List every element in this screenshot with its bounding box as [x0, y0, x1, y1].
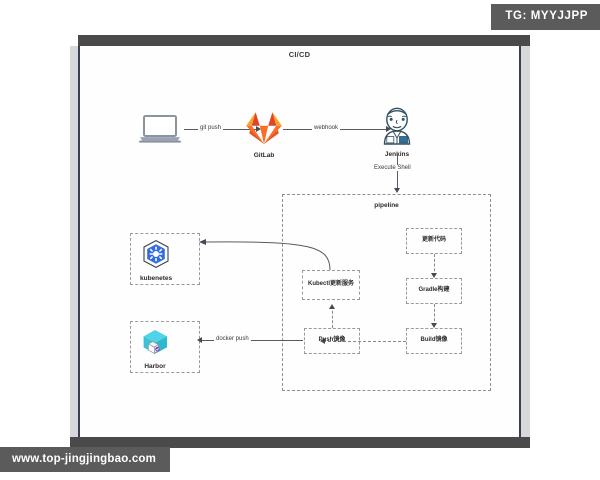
screenshot-root: CI/CD git push [0, 0, 600, 480]
frame-right-rule [519, 46, 521, 437]
diagram-canvas: CI/CD git push [80, 46, 519, 437]
frame-right-gutter [521, 46, 530, 437]
watermark-website: www.top-jingjingbao.com [0, 447, 170, 473]
watermark-telegram: TG: MYYJJPP [491, 4, 600, 30]
frame-top-bar [78, 35, 530, 46]
edge-kubectl-to-k8s [80, 46, 519, 437]
